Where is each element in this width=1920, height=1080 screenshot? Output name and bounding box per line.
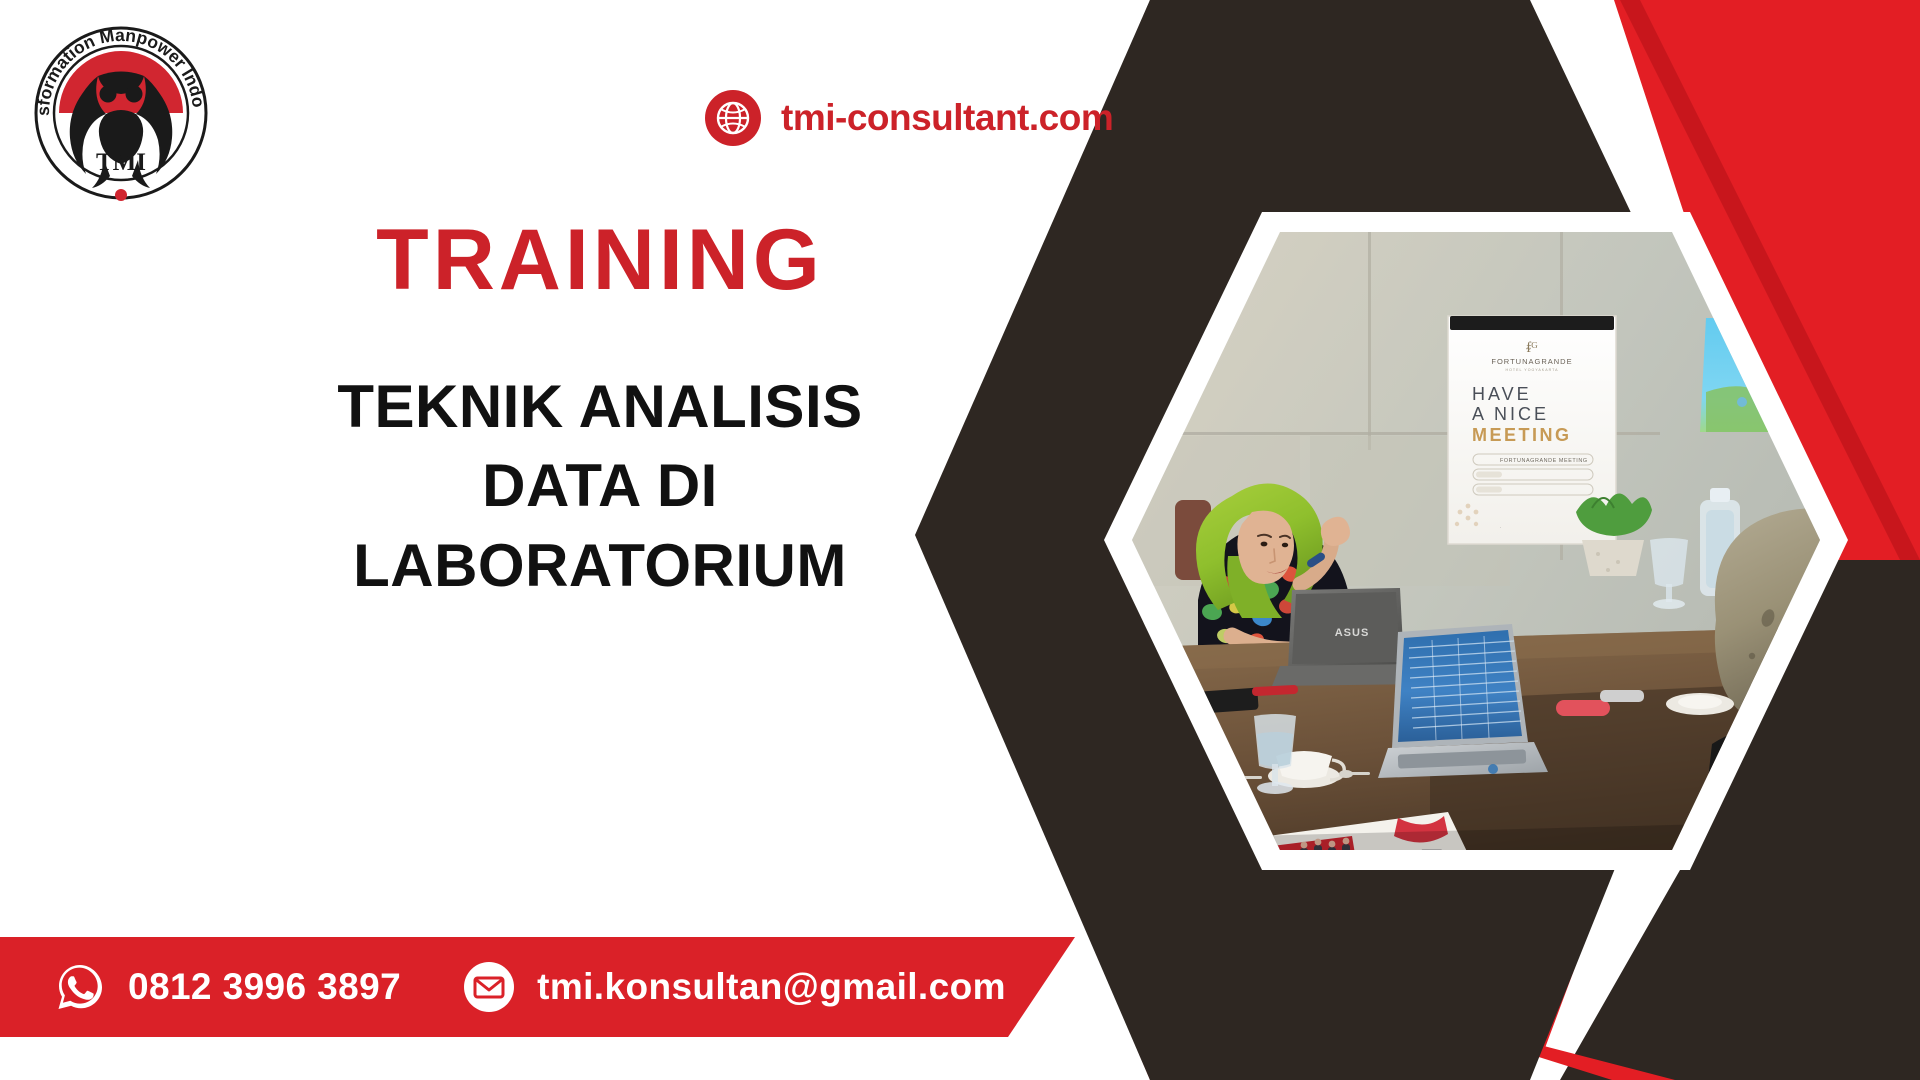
tmi-circular-logo: Transformation Manpower Indonesia TMI: [26, 18, 216, 208]
email-address[interactable]: tmi.konsultan@gmail.com: [537, 966, 1006, 1008]
eyebrow-training: TRAINING: [40, 215, 1160, 305]
svg-text:ᵮᴳ: ᵮᴳ: [1525, 340, 1538, 356]
envelope-icon: [461, 959, 517, 1015]
logo-red-dot: [115, 189, 127, 201]
svg-text:FORTUNAGRANDE MEETING: FORTUNAGRANDE MEETING: [1500, 458, 1588, 464]
svg-text:HOTEL YOGYAKARTA: HOTEL YOGYAKARTA: [1506, 368, 1559, 372]
svg-text:A NICE: A NICE: [1472, 404, 1549, 424]
contact-phone[interactable]: 0812 3996 3897: [52, 959, 401, 1015]
whatsapp-icon: [52, 959, 108, 1015]
globe-icon: [705, 90, 761, 146]
contact-email[interactable]: tmi.konsultan@gmail.com: [461, 959, 1006, 1015]
logo-monogram: TMI: [96, 149, 146, 176]
svg-text:HAVE: HAVE: [1472, 384, 1532, 404]
poster-canvas: ᵮᴳ FORTUNAGRANDE HOTEL YOGYAKARTA HAVE A…: [0, 0, 1920, 1080]
page-title: TEKNIK ANALISIS DATA DI LABORATORIUM: [40, 367, 1160, 605]
website-row[interactable]: tmi-consultant.com: [705, 90, 1113, 146]
svg-text:ASUS: ASUS: [1335, 627, 1370, 639]
phone-number[interactable]: 0812 3996 3897: [128, 966, 401, 1008]
svg-text:MEETING: MEETING: [1472, 425, 1572, 445]
title-line-3: LABORATORIUM: [40, 526, 1160, 605]
contact-banner-content: 0812 3996 3897 tmi.konsultan@gmail.com: [0, 937, 1006, 1037]
svg-text:.: .: [1500, 525, 1501, 529]
title-line-2: DATA DI: [40, 446, 1160, 525]
title-line-1: TEKNIK ANALISIS: [40, 367, 1160, 446]
tmi-logo: Transformation Manpower Indonesia TMI: [26, 18, 216, 208]
svg-text:FORTUNAGRANDE: FORTUNAGRANDE: [1491, 357, 1572, 366]
headline-block: TRAINING TEKNIK ANALISIS DATA DI LABORAT…: [40, 215, 1160, 605]
website-url[interactable]: tmi-consultant.com: [781, 97, 1113, 139]
